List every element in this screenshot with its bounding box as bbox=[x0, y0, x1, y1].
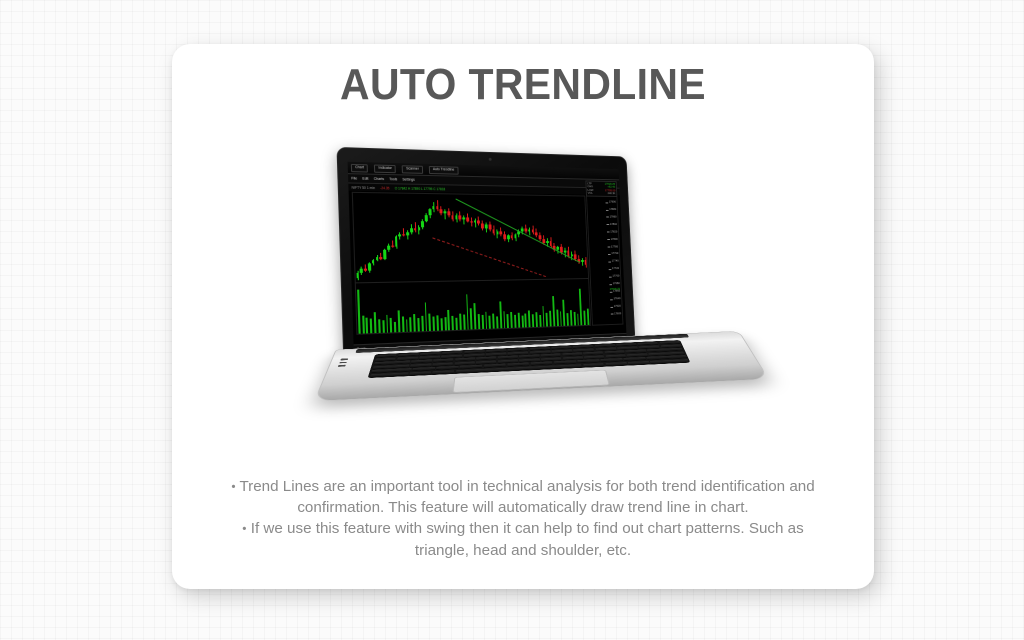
symbol-ohlc: O 17842 H 17890 L 17795 C 17818 bbox=[395, 186, 446, 191]
candle bbox=[510, 232, 513, 240]
candle bbox=[379, 253, 382, 260]
volume-bar bbox=[489, 316, 491, 329]
candle bbox=[470, 217, 473, 226]
candle-body bbox=[584, 260, 587, 264]
port-icon bbox=[340, 358, 348, 360]
candle-body bbox=[444, 212, 447, 214]
candle bbox=[514, 233, 517, 241]
menu-item-charts[interactable]: Charts bbox=[374, 176, 385, 182]
candle bbox=[402, 228, 405, 237]
candle bbox=[410, 224, 413, 233]
candle bbox=[492, 226, 495, 236]
keyboard-key[interactable] bbox=[370, 372, 409, 377]
candle bbox=[414, 223, 417, 232]
candle bbox=[447, 208, 450, 217]
candle-body bbox=[432, 206, 435, 210]
candle-body bbox=[372, 260, 375, 264]
candle bbox=[376, 255, 379, 262]
volume-bar bbox=[481, 315, 483, 329]
bullet-text: If we use this feature with swing then i… bbox=[251, 520, 804, 558]
volume-bar bbox=[560, 311, 562, 326]
volume-bar bbox=[507, 314, 509, 328]
volume-bar bbox=[499, 302, 502, 329]
volume-bar bbox=[535, 312, 537, 327]
webcam-icon bbox=[489, 158, 492, 161]
laptop-lid: Chart Indicator Scanner Auto Trendline F… bbox=[336, 147, 635, 365]
candle-body bbox=[535, 232, 538, 236]
candle-body bbox=[418, 227, 421, 230]
candle-body bbox=[546, 241, 548, 243]
candle-body bbox=[380, 257, 383, 259]
candle bbox=[485, 223, 488, 232]
candle-body bbox=[511, 236, 514, 239]
bullet-marker: • bbox=[231, 479, 235, 493]
candle bbox=[481, 220, 484, 230]
candle bbox=[432, 202, 435, 212]
price-tick: 17760 bbox=[611, 253, 618, 256]
candle bbox=[496, 229, 499, 238]
volume-bar bbox=[466, 294, 469, 329]
candle-body bbox=[428, 210, 431, 216]
volume-bar bbox=[452, 316, 454, 330]
candle bbox=[459, 212, 462, 221]
candle-body bbox=[507, 236, 510, 240]
menu-item-tools[interactable]: Tools bbox=[389, 176, 397, 182]
feature-description: • Trend Lines are an important tool in t… bbox=[220, 476, 826, 561]
volume-bar bbox=[410, 317, 412, 331]
price-tick: 17700 bbox=[612, 275, 619, 278]
volume-bar bbox=[370, 319, 372, 334]
volume-bar bbox=[382, 321, 384, 333]
volume-bar bbox=[584, 311, 586, 326]
candle bbox=[391, 241, 394, 249]
candle-body bbox=[414, 228, 417, 230]
volume-bar bbox=[518, 313, 520, 328]
volume-bar bbox=[514, 315, 516, 328]
price-tick: 17800 bbox=[611, 238, 618, 241]
candle bbox=[466, 214, 469, 223]
candle bbox=[383, 249, 386, 260]
last-price-tag: 17818.25 bbox=[610, 288, 621, 291]
candle-body bbox=[532, 229, 535, 232]
quote-panel: LTP17818.25CHG+62.40LOW17795.00VOL248.3K bbox=[585, 180, 617, 197]
volume-bar bbox=[556, 309, 558, 326]
keyboard-key[interactable] bbox=[433, 370, 455, 374]
candle bbox=[455, 214, 458, 223]
volume-bar bbox=[366, 317, 369, 333]
candle bbox=[395, 236, 398, 249]
quote-label: VOL bbox=[588, 192, 593, 195]
price-tick: 17820 bbox=[610, 230, 617, 233]
volume-bar bbox=[567, 313, 569, 325]
candle-body bbox=[425, 215, 428, 221]
candle bbox=[428, 208, 431, 218]
price-tick: 17640 bbox=[613, 297, 620, 300]
volume-bar bbox=[552, 296, 555, 327]
symbol-name: NIFTY 50 1 min bbox=[352, 185, 376, 190]
candle-body bbox=[514, 235, 517, 239]
volume-bar bbox=[378, 320, 380, 333]
candle bbox=[387, 243, 390, 252]
candle bbox=[425, 213, 428, 222]
keyboard-key[interactable] bbox=[650, 359, 688, 364]
volume-bar bbox=[532, 314, 534, 327]
candle-body bbox=[474, 220, 477, 223]
candle bbox=[440, 206, 443, 215]
candle-body bbox=[383, 250, 386, 259]
candle bbox=[372, 259, 375, 266]
volume-bar bbox=[455, 318, 457, 330]
price-tick: 17740 bbox=[612, 260, 619, 263]
candle-body bbox=[421, 221, 424, 228]
volume-bar bbox=[577, 314, 579, 325]
volume-series bbox=[356, 279, 590, 333]
volume-bar bbox=[549, 310, 551, 326]
candle bbox=[364, 265, 367, 272]
candle-body bbox=[492, 229, 495, 234]
price-tick: 17840 bbox=[610, 223, 617, 226]
volume-bar bbox=[510, 312, 512, 328]
laptop-mockup: Chart Indicator Scanner Auto Trendline F… bbox=[334, 144, 754, 444]
port-icon bbox=[338, 365, 346, 367]
volume-bar bbox=[424, 303, 427, 332]
volume-bar bbox=[394, 321, 396, 332]
volume-bar bbox=[440, 319, 442, 331]
candle bbox=[488, 221, 491, 231]
volume-bar bbox=[539, 315, 541, 326]
candle bbox=[477, 216, 480, 225]
volume-bar bbox=[444, 317, 446, 330]
candle bbox=[360, 267, 363, 276]
candle-body bbox=[521, 228, 524, 231]
volume-bar bbox=[374, 312, 377, 333]
candle bbox=[368, 263, 371, 273]
bullet-item-2: • If we use this feature with swing then… bbox=[220, 518, 826, 560]
volume-bar bbox=[386, 314, 389, 332]
candle bbox=[451, 212, 454, 221]
volume-bar bbox=[433, 317, 435, 331]
candle-body bbox=[500, 231, 503, 235]
volume-bar bbox=[570, 310, 572, 326]
candle bbox=[584, 257, 587, 268]
candle-body bbox=[564, 251, 566, 253]
volume-bar bbox=[573, 312, 575, 325]
volume-bar bbox=[478, 314, 480, 329]
volume-bar bbox=[448, 310, 451, 330]
candle-body bbox=[356, 272, 359, 278]
candle-body bbox=[581, 260, 583, 262]
candle-body bbox=[524, 228, 527, 231]
price-tick: 17720 bbox=[612, 267, 619, 270]
candle bbox=[356, 270, 359, 279]
volume-bar bbox=[406, 320, 408, 332]
candle-body bbox=[528, 229, 531, 231]
candle-body bbox=[376, 257, 379, 260]
page-root: AUTO TRENDLINE Chart Indicator Scanner A… bbox=[0, 0, 1024, 640]
candle-body bbox=[459, 215, 462, 219]
candle bbox=[436, 200, 439, 211]
candle bbox=[499, 228, 502, 237]
bullet-item-1: • Trend Lines are an important tool in t… bbox=[220, 476, 826, 518]
bullet-marker: • bbox=[242, 522, 246, 536]
volume-pane bbox=[356, 278, 590, 333]
candle-body bbox=[364, 268, 367, 270]
toolbar-button-auto-trendline[interactable]: Auto Trendline bbox=[429, 165, 459, 174]
candle-body bbox=[398, 234, 401, 237]
volume-bar bbox=[542, 306, 545, 326]
volume-bar bbox=[413, 314, 416, 332]
volume-bar bbox=[421, 316, 423, 332]
volume-bar bbox=[485, 311, 488, 328]
price-tick: 17880 bbox=[609, 208, 616, 211]
volume-bar bbox=[587, 308, 589, 325]
candle-body bbox=[391, 245, 394, 247]
candle-body bbox=[447, 212, 450, 216]
candle bbox=[503, 231, 506, 241]
candle-body bbox=[466, 217, 469, 221]
laptop-trackpad[interactable] bbox=[452, 370, 609, 393]
price-tick: 17620 bbox=[614, 305, 621, 308]
candle-body bbox=[549, 241, 552, 246]
candle bbox=[398, 232, 401, 240]
laptop-screen: Chart Indicator Scanner Auto Trendline F… bbox=[348, 162, 627, 352]
symbol-change: -24.35 bbox=[380, 186, 389, 190]
candle-body bbox=[440, 210, 443, 214]
price-tick: 17600 bbox=[614, 312, 621, 315]
candle bbox=[539, 232, 542, 241]
candle bbox=[581, 258, 584, 266]
candle bbox=[406, 230, 409, 239]
candle bbox=[474, 218, 477, 227]
quote-row: VOL248.3K bbox=[588, 192, 616, 196]
candle-body bbox=[395, 237, 398, 247]
candle-body bbox=[402, 234, 405, 236]
candle bbox=[444, 210, 447, 219]
volume-bar bbox=[436, 315, 438, 330]
toolbar-button-chart[interactable]: Chart bbox=[351, 163, 368, 172]
bullet-text: Trend Lines are an important tool in tec… bbox=[239, 478, 814, 516]
candle-body bbox=[410, 228, 413, 232]
candle-body bbox=[571, 254, 573, 256]
toolbar-button-scanner[interactable]: Scanner bbox=[402, 165, 423, 174]
volume-bar bbox=[546, 313, 548, 327]
candle bbox=[531, 226, 534, 234]
candle-body bbox=[481, 224, 484, 229]
volume-bar bbox=[579, 288, 582, 325]
price-tick: 17780 bbox=[611, 245, 618, 248]
candle-body bbox=[462, 217, 465, 219]
volume-bar bbox=[463, 314, 465, 329]
candle-body bbox=[485, 225, 488, 229]
price-axis[interactable]: 1790017880178601784017820178001778017760… bbox=[586, 196, 623, 326]
keyboard-key[interactable] bbox=[605, 362, 627, 366]
candle bbox=[462, 215, 465, 224]
volume-bar bbox=[429, 313, 432, 331]
volume-bar bbox=[528, 310, 530, 327]
candle-body bbox=[503, 235, 506, 240]
candle-body bbox=[436, 206, 439, 210]
laptop-ports bbox=[338, 358, 348, 366]
volume-bar bbox=[390, 318, 392, 333]
candle bbox=[528, 228, 531, 236]
volume-bar bbox=[525, 314, 527, 328]
candle bbox=[421, 219, 424, 229]
volume-bar bbox=[459, 313, 461, 329]
volume-bar bbox=[357, 290, 360, 334]
volume-bar bbox=[470, 308, 473, 329]
volume-bar bbox=[503, 311, 506, 328]
candle bbox=[535, 229, 538, 238]
candle-body bbox=[470, 221, 473, 223]
feature-card: AUTO TRENDLINE Chart Indicator Scanner A… bbox=[172, 44, 874, 589]
price-tick: 17860 bbox=[610, 215, 617, 218]
candle-body bbox=[406, 232, 409, 236]
candle bbox=[524, 225, 527, 233]
volume-bar bbox=[492, 313, 494, 328]
keyboard-key[interactable] bbox=[628, 361, 650, 365]
volume-bar bbox=[521, 316, 523, 328]
candle-body bbox=[387, 245, 390, 250]
volume-bar bbox=[496, 317, 498, 329]
candle-body bbox=[496, 231, 499, 234]
candle-body bbox=[451, 215, 454, 219]
candle-body bbox=[539, 236, 542, 240]
menu-item-settings[interactable]: Settings bbox=[402, 176, 415, 182]
volume-bar bbox=[402, 316, 404, 332]
keyboard-key[interactable] bbox=[583, 363, 605, 367]
candle-body bbox=[477, 220, 480, 224]
volume-bar bbox=[563, 300, 566, 326]
candle-body bbox=[488, 225, 491, 230]
volume-bar bbox=[398, 310, 401, 332]
volume-bar bbox=[474, 304, 477, 330]
volume-bar bbox=[362, 315, 365, 333]
volume-bar bbox=[417, 318, 419, 331]
candle bbox=[418, 225, 421, 233]
price-tick: 17680 bbox=[613, 282, 620, 285]
quote-value: 248.3K bbox=[608, 192, 616, 195]
price-tick: 17900 bbox=[609, 201, 616, 204]
menu-item-file[interactable]: File bbox=[351, 175, 357, 181]
price-pane bbox=[353, 193, 588, 280]
candle-body bbox=[360, 268, 363, 272]
candle bbox=[507, 234, 510, 242]
candle-body bbox=[368, 264, 371, 271]
menu-item-edit[interactable]: Edit bbox=[362, 176, 368, 182]
port-icon bbox=[339, 362, 347, 364]
toolbar-button-indicator[interactable]: Indicator bbox=[374, 164, 396, 173]
chart-plot-area[interactable] bbox=[352, 192, 591, 335]
candle-body bbox=[455, 215, 458, 219]
page-title: AUTO TRENDLINE bbox=[197, 61, 850, 109]
keyboard-key[interactable] bbox=[410, 371, 432, 375]
